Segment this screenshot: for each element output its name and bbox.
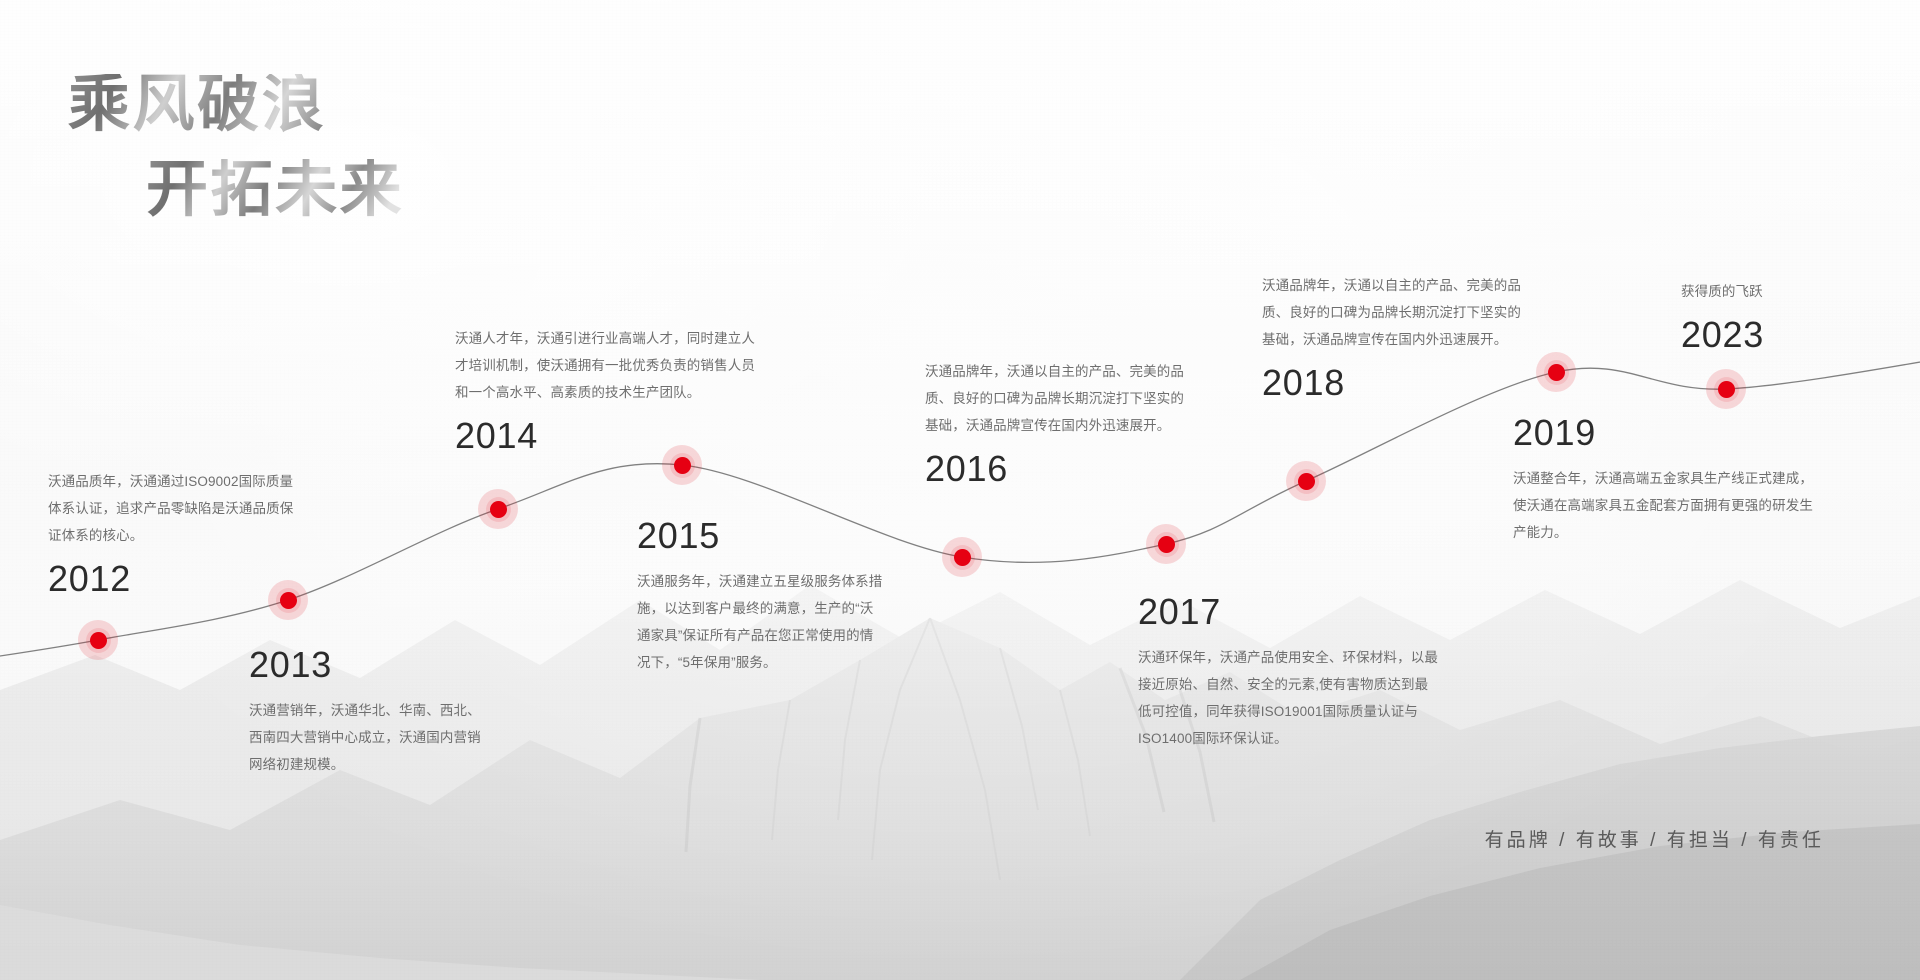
- timeline-dot-core-icon: [1718, 381, 1735, 398]
- timeline-dot-core-icon: [1298, 473, 1315, 490]
- timeline-node-2016[interactable]: 沃通品牌年，沃通以自主的产品、完美的品质、良好的口碑为品牌长期沉淀打下坚实的基础…: [925, 358, 1190, 489]
- footer-slogan: 有品牌 / 有故事 / 有担当 / 有责任: [1485, 825, 1824, 852]
- timeline-year-label: 2013: [249, 645, 494, 685]
- timeline-year-label: 2014: [455, 416, 755, 456]
- timeline-description: 沃通人才年，沃通引进行业高端人才，同时建立人才培训机制，使沃通拥有一批优秀负责的…: [455, 325, 755, 406]
- timeline-dot-core-icon: [954, 549, 971, 566]
- page-title: 乘风破浪 开拓未来: [68, 74, 404, 222]
- timeline-dot-2018[interactable]: [1286, 461, 1326, 501]
- timeline-node-2013[interactable]: 2013沃通营销年，沃通华北、华南、西北、西南四大营销中心成立，沃通国内营销网络…: [249, 645, 494, 778]
- timeline-description: 沃通品牌年，沃通以自主的产品、完美的品质、良好的口碑为品牌长期沉淀打下坚实的基础…: [925, 358, 1190, 439]
- timeline-description: 沃通服务年，沃通建立五星级服务体系措施，以达到客户最终的满意，生产的“沃通家具”…: [637, 568, 887, 676]
- timeline-dot-2017[interactable]: [1146, 524, 1186, 564]
- timeline-node-2018[interactable]: 沃通品牌年，沃通以自主的产品、完美的品质、良好的口碑为品牌长期沉淀打下坚实的基础…: [1262, 272, 1527, 403]
- timeline-node-2014[interactable]: 沃通人才年，沃通引进行业高端人才，同时建立人才培训机制，使沃通拥有一批优秀负责的…: [455, 325, 755, 456]
- timeline-description: 沃通营销年，沃通华北、华南、西北、西南四大营销中心成立，沃通国内营销网络初建规模…: [249, 697, 494, 778]
- timeline-node-2023[interactable]: 获得质的飞跃2023: [1681, 278, 1911, 355]
- timeline-year-label: 2019: [1513, 413, 1813, 453]
- timeline-node-2012[interactable]: 沃通品质年，沃通通过ISO9002国际质量体系认证，追求产品零缺陷是沃通品质保证…: [48, 468, 298, 599]
- timeline-dot-core-icon: [90, 632, 107, 649]
- timeline-year-label: 2018: [1262, 363, 1527, 403]
- timeline-year-label: 2016: [925, 449, 1190, 489]
- timeline-infographic: 乘风破浪 开拓未来 沃通品质年，沃通通过ISO9002国际质量体系认证，追求产品…: [0, 0, 1920, 980]
- timeline-dot-2016[interactable]: [942, 537, 982, 577]
- timeline-year-label: 2017: [1138, 592, 1438, 632]
- timeline-description: 获得质的飞跃: [1681, 278, 1911, 305]
- timeline-dot-2014[interactable]: [478, 489, 518, 529]
- timeline-dot-core-icon: [490, 501, 507, 518]
- timeline-description: 沃通环保年，沃通产品使用安全、环保材料，以最接近原始、自然、安全的元素,使有害物…: [1138, 644, 1438, 752]
- timeline-year-label: 2012: [48, 559, 298, 599]
- timeline-description: 沃通品牌年，沃通以自主的产品、完美的品质、良好的口碑为品牌长期沉淀打下坚实的基础…: [1262, 272, 1527, 353]
- page-title-line-1: 乘风破浪: [68, 74, 404, 137]
- timeline-node-2019[interactable]: 2019沃通整合年，沃通高端五金家具生产线正式建成，使沃通在高端家具五金配套方面…: [1513, 413, 1813, 546]
- timeline-dot-core-icon: [674, 457, 691, 474]
- page-title-line-2: 开拓未来: [146, 159, 404, 222]
- timeline-dot-2012[interactable]: [78, 620, 118, 660]
- timeline-year-label: 2015: [637, 516, 887, 556]
- timeline-node-2015[interactable]: 2015沃通服务年，沃通建立五星级服务体系措施，以达到客户最终的满意，生产的“沃…: [637, 516, 887, 676]
- timeline-year-label: 2023: [1681, 315, 1911, 355]
- timeline-dot-core-icon: [1158, 536, 1175, 553]
- timeline-description: 沃通整合年，沃通高端五金家具生产线正式建成，使沃通在高端家具五金配套方面拥有更强…: [1513, 465, 1813, 546]
- timeline-node-2017[interactable]: 2017沃通环保年，沃通产品使用安全、环保材料，以最接近原始、自然、安全的元素,…: [1138, 592, 1438, 752]
- timeline-dot-2019[interactable]: [1536, 352, 1576, 392]
- timeline-dot-2023[interactable]: [1706, 369, 1746, 409]
- timeline-dot-core-icon: [1548, 364, 1565, 381]
- timeline-description: 沃通品质年，沃通通过ISO9002国际质量体系认证，追求产品零缺陷是沃通品质保证…: [48, 468, 298, 549]
